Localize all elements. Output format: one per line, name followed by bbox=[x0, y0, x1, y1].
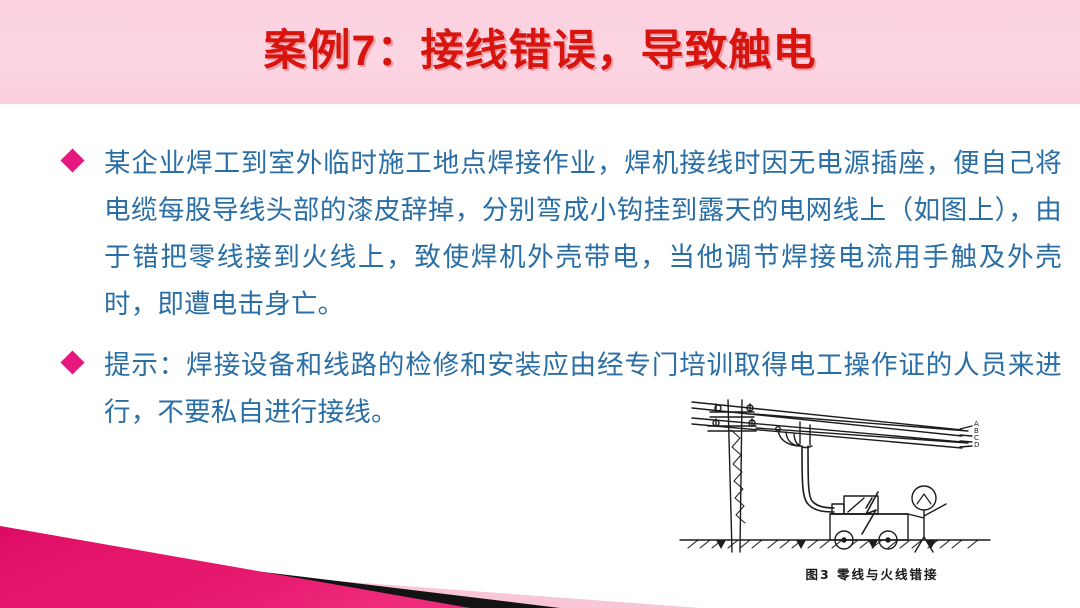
wiring-diagram-svg: A B C D bbox=[672, 392, 1072, 567]
figure-wiring-diagram: A B C D bbox=[672, 392, 1072, 600]
bullet-item-case-description: 某企业焊工到室外临时施工地点焊接作业，焊机接线时因无电源插座，便自己将电缆每股导… bbox=[62, 140, 1062, 328]
worker-stick-figure bbox=[908, 486, 946, 552]
svg-text:D: D bbox=[974, 441, 979, 449]
slide-root: 案例7：接线错误，导致触电 某企业焊工到室外临时施工地点焊接作业，焊机接线时因无… bbox=[0, 0, 1080, 608]
welding-cable bbox=[802, 446, 834, 512]
figure-caption: 图3 零线与火线错接 bbox=[672, 564, 1072, 583]
diamond-bullet-icon bbox=[60, 148, 84, 172]
diamond-bullet-icon bbox=[60, 350, 84, 374]
page-title: 案例7：接线错误，导致触电 bbox=[0, 16, 1080, 78]
header-band: 案例7：接线错误，导致触电 bbox=[0, 0, 1080, 104]
overhead-power-lines bbox=[692, 402, 968, 448]
bullet-item-label: 某企业焊工到室外临时施工地点焊接作业，焊机接线时因无电源插座，便自己将电缆每股导… bbox=[104, 140, 1062, 328]
wire-labels: A B C D bbox=[974, 420, 979, 449]
